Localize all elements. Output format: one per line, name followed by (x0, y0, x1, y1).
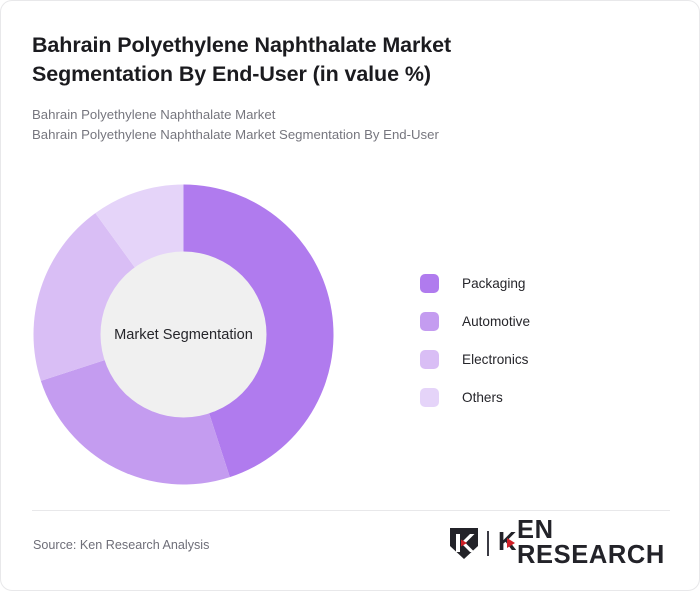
logo-accent-triangle-icon (507, 538, 515, 548)
donut-chart-svg (33, 184, 334, 485)
subtitle-line-2: Bahrain Polyethylene Naphthalate Market … (32, 125, 592, 145)
legend-label: Electronics (462, 352, 528, 367)
subtitle-block: Bahrain Polyethylene Naphthalate Market … (32, 105, 592, 145)
logo-wordmark: K EN RESEARCH (498, 518, 699, 569)
legend-label: Packaging (462, 276, 525, 291)
legend-label: Others (462, 390, 503, 405)
chart-legend: PackagingAutomotiveElectronicsOthers (420, 264, 530, 416)
legend-swatch (420, 312, 439, 331)
ken-research-shield-icon (447, 526, 481, 560)
source-note: Source: Ken Research Analysis (33, 538, 209, 552)
legend-swatch (420, 388, 439, 407)
legend-item[interactable]: Electronics (420, 340, 530, 378)
legend-swatch (420, 274, 439, 293)
chart-card: Bahrain Polyethylene Naphthalate Market … (0, 0, 700, 591)
legend-label: Automotive (462, 314, 530, 329)
logo-text-rest: EN RESEARCH (517, 518, 699, 569)
legend-item[interactable]: Packaging (420, 264, 530, 302)
logo-k-letter: K (498, 530, 517, 556)
page-title: Bahrain Polyethylene Naphthalate Market … (32, 31, 592, 89)
subtitle-line-1: Bahrain Polyethylene Naphthalate Market (32, 105, 592, 125)
donut-chart: Market Segmentation (33, 184, 334, 485)
legend-swatch (420, 350, 439, 369)
chart-header: Bahrain Polyethylene Naphthalate Market … (32, 31, 592, 145)
legend-item[interactable]: Automotive (420, 302, 530, 340)
footer-divider (32, 510, 670, 511)
donut-hole (101, 252, 267, 418)
ken-research-logo: K EN RESEARCH (447, 525, 699, 561)
logo-divider-bar (487, 531, 489, 556)
legend-item[interactable]: Others (420, 378, 530, 416)
